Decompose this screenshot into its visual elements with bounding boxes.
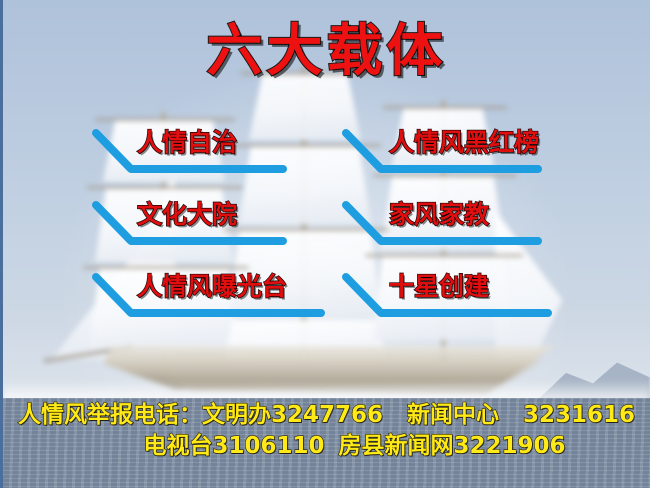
contact-org-civilization-office: 文明办3247766 (202, 402, 383, 428)
contact-footer: 人情风举报电话：文明办3247766新闻中心3231616 电视台3106110… (3, 400, 650, 462)
carrier-item-left-2[interactable]: 文化大院 (91, 200, 291, 258)
contact-line1-prefix: 人情风举报电话： (18, 402, 202, 428)
contact-org-news-center: 新闻中心 (407, 402, 499, 428)
poster-title: 六大载体 (3, 20, 650, 84)
contact-line-1: 人情风举报电话：文明办3247766新闻中心3231616 (3, 400, 650, 431)
contact-org-fangxian-news-web: 房县新闻网3221906 (339, 433, 566, 459)
carrier-item-left-3[interactable]: 人情风曝光台 (91, 272, 329, 330)
carrier-item-right-3[interactable]: 十星创建 (341, 272, 556, 330)
carrier-item-label: 人情自治 (137, 126, 237, 160)
carrier-item-label: 十星创建 (389, 270, 489, 304)
contact-number-news-center: 3231616 (523, 402, 635, 428)
carrier-item-right-1[interactable]: 人情风黑红榜 (341, 128, 546, 186)
carrier-item-label: 人情风黑红榜 (389, 126, 539, 160)
carrier-item-label: 文化大院 (137, 198, 237, 232)
carrier-item-label: 家风家教 (389, 198, 489, 232)
carrier-item-right-2[interactable]: 家风家教 (341, 200, 546, 258)
contact-org-tv-station: 电视台3106110 (143, 433, 324, 459)
carrier-item-left-1[interactable]: 人情自治 (91, 128, 291, 186)
poster-canvas: 六大载体 人情自治 文化大院 人情风曝光台 人情风黑红榜 家风家教 (0, 0, 650, 488)
contact-line-2: 电视台3106110房县新闻网3221906 (3, 431, 650, 462)
carrier-item-label: 人情风曝光台 (137, 270, 287, 304)
